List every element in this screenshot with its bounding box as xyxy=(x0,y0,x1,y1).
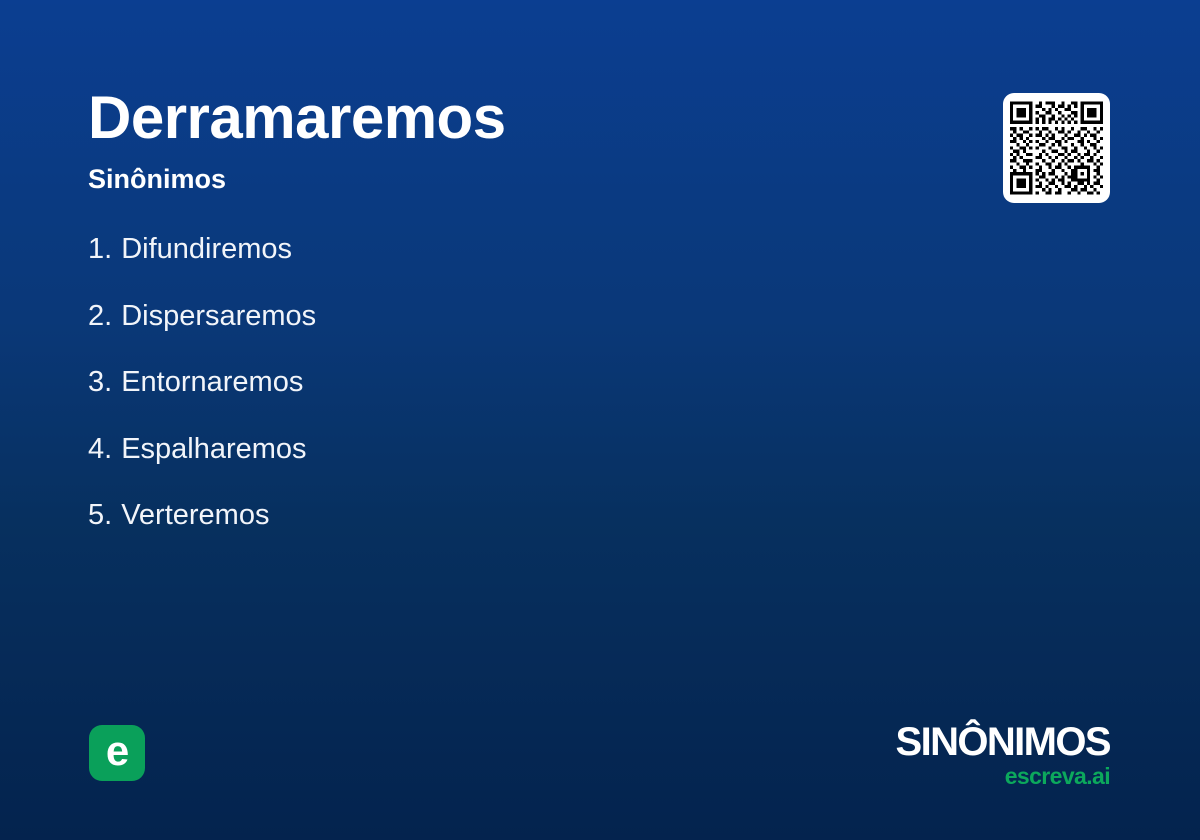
list-item: 4. Espalharemos xyxy=(88,435,788,502)
brand-logo: SINÔNIMOS escreva.ai xyxy=(895,722,1110,788)
list-item: 3. Entornaremos xyxy=(88,368,788,435)
list-item: 2. Dispersaremos xyxy=(88,302,788,369)
brand-tagline: escreva.ai xyxy=(895,765,1110,788)
list-item-label: Espalharemos xyxy=(121,435,306,464)
list-item-label: Dispersaremos xyxy=(121,302,316,331)
page-subtitle: Sinônimos xyxy=(88,163,948,195)
list-item: 5. Verteremos xyxy=(88,501,788,568)
escreva-e-logo-letter: e xyxy=(106,730,128,772)
list-item: 1. Difundiremos xyxy=(88,235,788,302)
list-item-index: 5. xyxy=(88,501,112,530)
list-item-label: Difundiremos xyxy=(121,235,292,264)
list-item-index: 2. xyxy=(88,302,112,331)
page-title: Derramaremos xyxy=(88,86,948,149)
list-item-index: 3. xyxy=(88,368,112,397)
qr-code-icon xyxy=(1010,100,1103,196)
synonym-card: Derramaremos Sinônimos xyxy=(0,0,1200,840)
list-item-label: Verteremos xyxy=(121,501,269,530)
list-item-index: 1. xyxy=(88,235,112,264)
header: Derramaremos Sinônimos xyxy=(88,86,948,195)
list-item-index: 4. xyxy=(88,435,112,464)
list-item-label: Entornaremos xyxy=(121,368,303,397)
escreva-e-logo-icon[interactable]: e xyxy=(89,725,145,781)
brand-wordmark: SINÔNIMOS xyxy=(895,722,1110,762)
synonyms-list: 1. Difundiremos 2. Dispersaremos 3. Ento… xyxy=(88,235,788,568)
qr-code[interactable] xyxy=(1003,93,1110,203)
